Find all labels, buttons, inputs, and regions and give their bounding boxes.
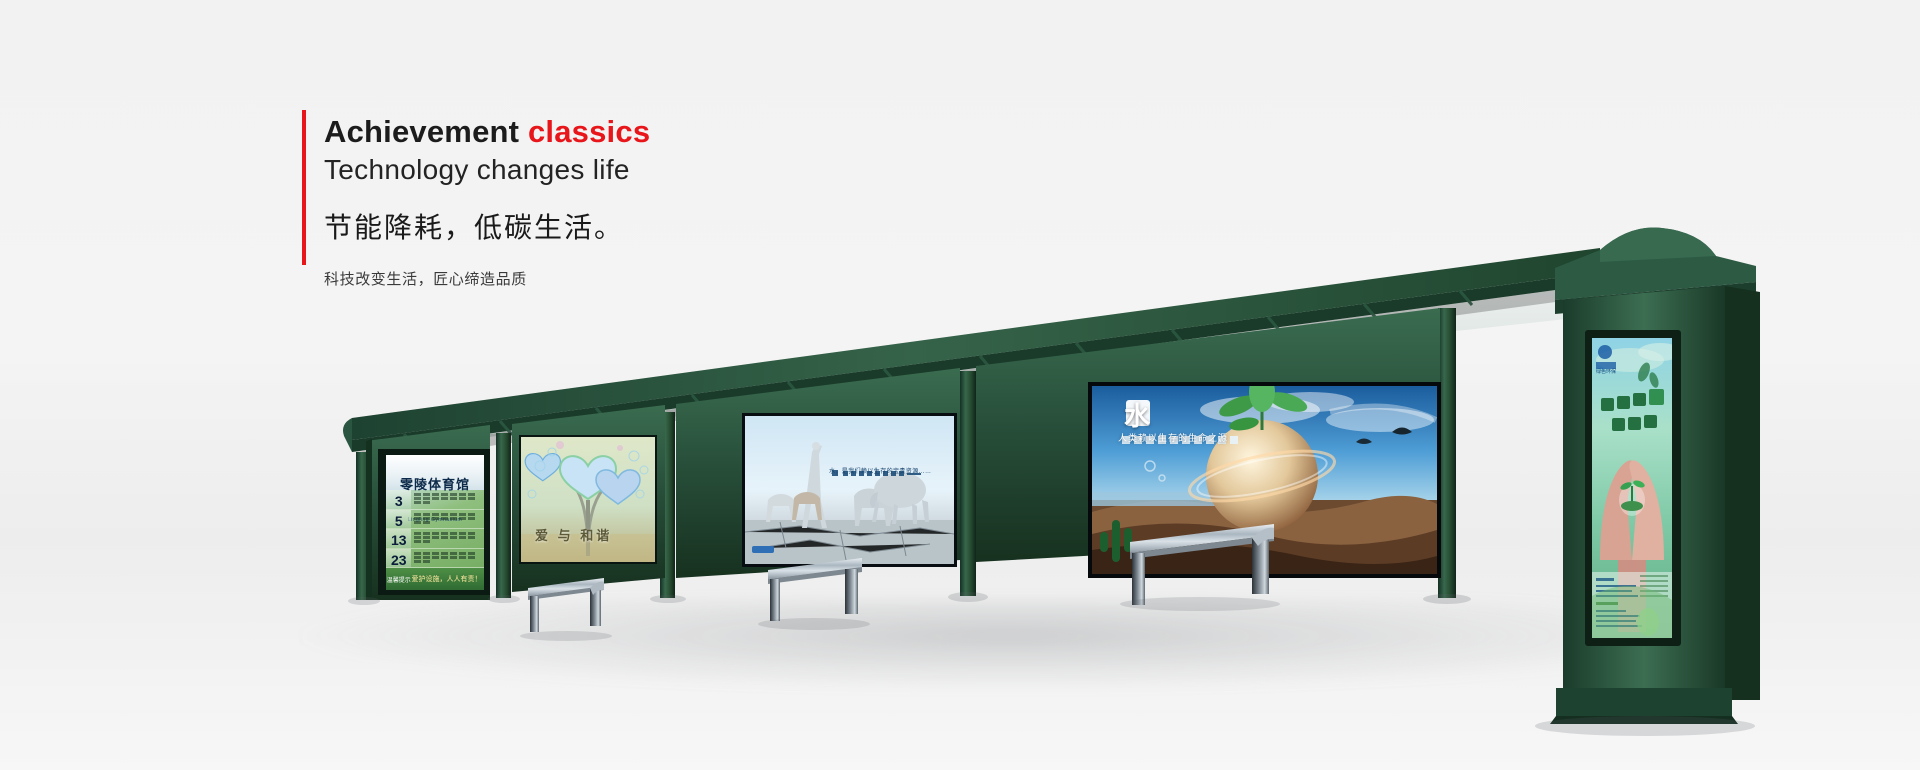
route-number: 5 (386, 510, 411, 529)
route-stops (411, 529, 484, 548)
route-number: 23 (386, 549, 411, 568)
panel-ad-love-harmony[interactable]: 爱 与 和谐 (521, 437, 655, 562)
route-stops (411, 490, 484, 509)
scene-stage: Achievement classics Technology changes … (0, 0, 1920, 770)
panel-ad-water-source[interactable]: 水 人类赖以生存的生命之源 (1092, 386, 1437, 574)
panel-route-board[interactable]: 零陵体育馆 Lingling Gymnasium 3 5 13 (386, 455, 484, 590)
route-row[interactable]: 23 (386, 549, 484, 569)
ad4-headline: 水 (1124, 396, 1152, 433)
route-board-rows: 3 5 13 23 (386, 490, 484, 568)
route-row[interactable]: 5 (386, 510, 484, 530)
ad5-logo-text: 绿色环保 (1596, 368, 1616, 375)
ad3-headline: 水，是我们赖以生存的宝贵资源…… (829, 466, 931, 475)
route-stops (411, 510, 484, 529)
route-stops (411, 549, 484, 568)
ad4-subhead: 人类赖以生存的生命之源 (1118, 431, 1228, 444)
route-footer-left: 温馨提示 (386, 575, 411, 584)
panel-ad-green-life[interactable]: 绿色环保 (1592, 338, 1672, 638)
route-row[interactable]: 3 (386, 490, 484, 510)
panel-ad-water-animals[interactable]: 水，是我们赖以生存的宝贵资源…… (745, 416, 954, 564)
route-footer-right: 爱护设施，人人有责！ (411, 574, 484, 584)
ad2-headline: 爱 与 和谐 (535, 525, 612, 544)
route-board-footer: 温馨提示 爱护设施，人人有责！ (386, 568, 484, 590)
route-row[interactable]: 13 (386, 529, 484, 549)
route-number: 13 (386, 529, 411, 548)
route-number: 3 (386, 490, 411, 509)
